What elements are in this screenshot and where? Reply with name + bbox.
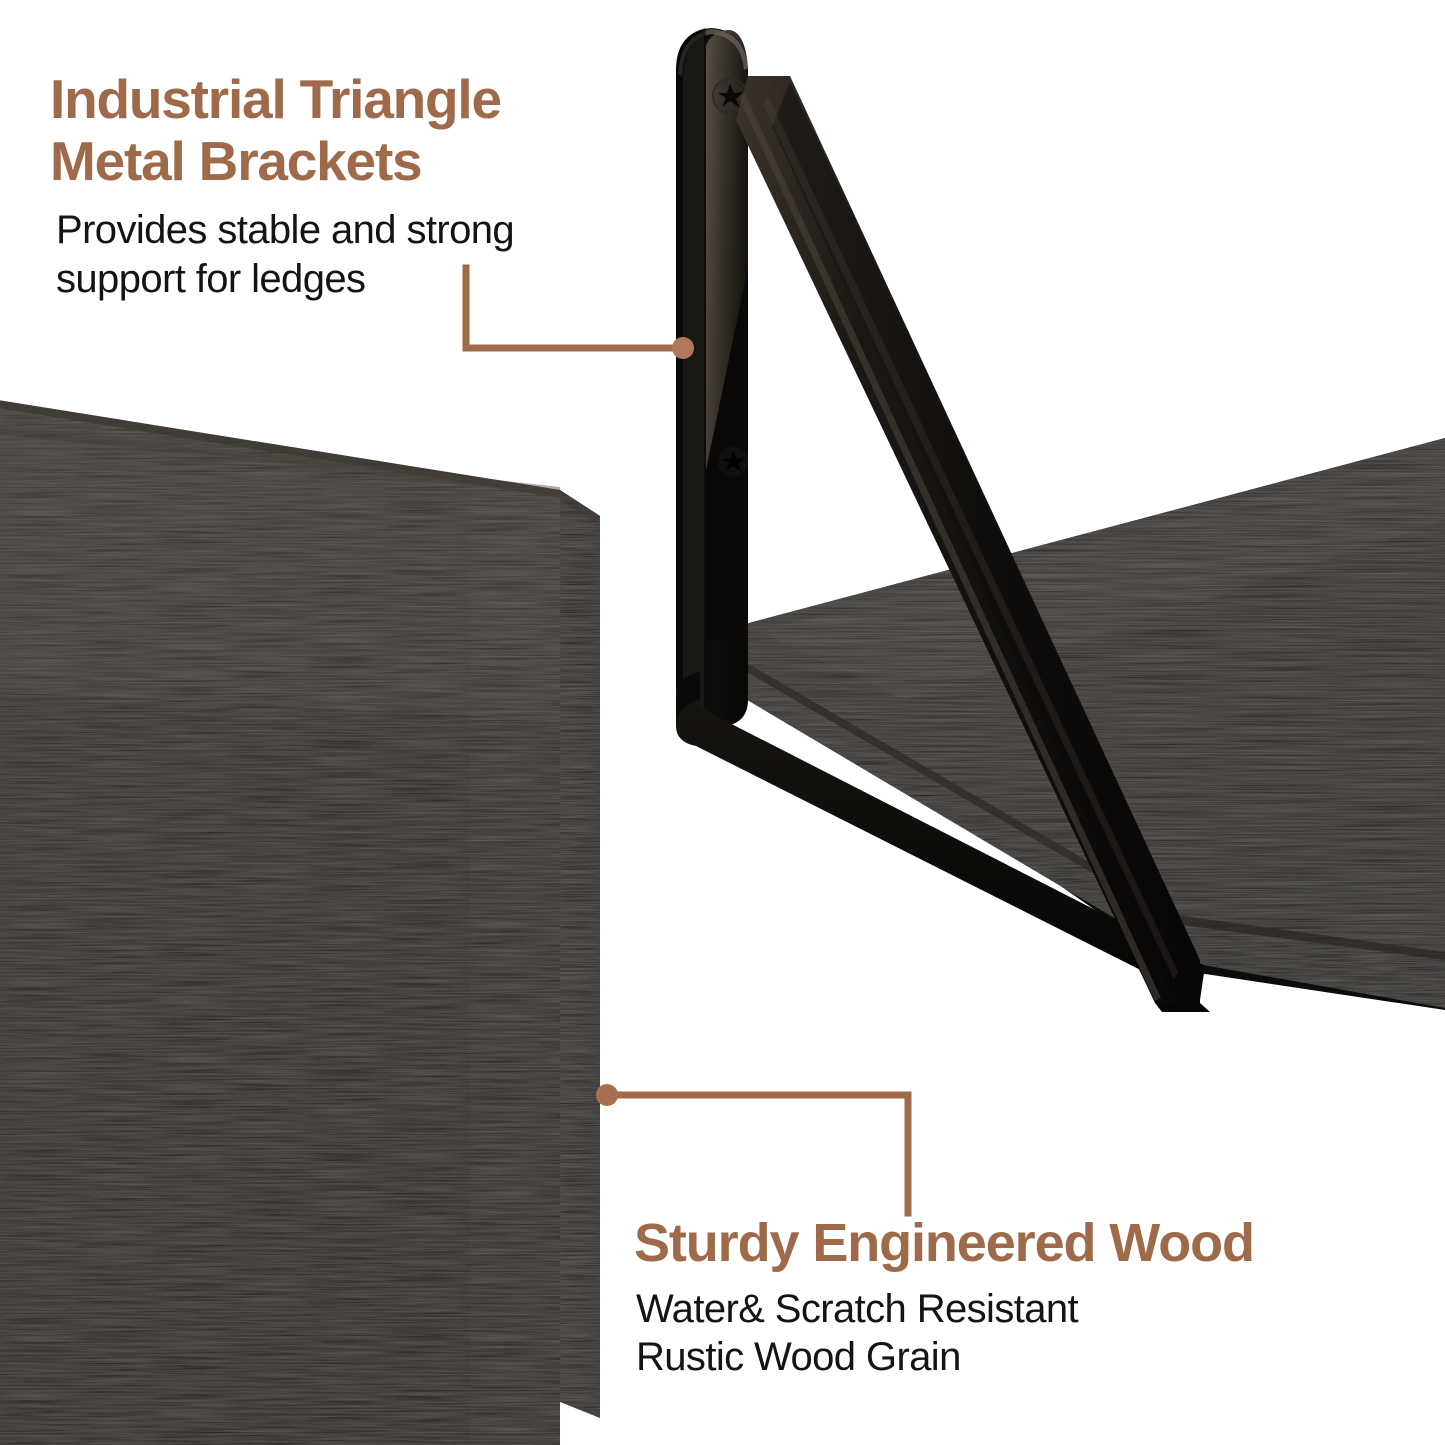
product-infographic: Industrial Triangle Metal Brackets Provi… [0,0,1445,1445]
callout-metal-brackets-headline: Industrial Triangle Metal Brackets [50,68,650,192]
left-shelf-board [0,394,600,1445]
bracket-screw-hole-lower [718,447,748,477]
callout-metal-brackets-subline: Provides stable and strong support for l… [56,206,650,304]
callout-metal-brackets: Industrial Triangle Metal Brackets Provi… [50,68,650,304]
callout-engineered-wood-headline: Sturdy Engineered Wood [634,1214,1434,1273]
callout-engineered-wood: Sturdy Engineered Wood Water& Scratch Re… [634,1214,1434,1381]
callout-engineered-wood-subline: Water& Scratch Resistant Rustic Wood Gra… [636,1285,1434,1381]
